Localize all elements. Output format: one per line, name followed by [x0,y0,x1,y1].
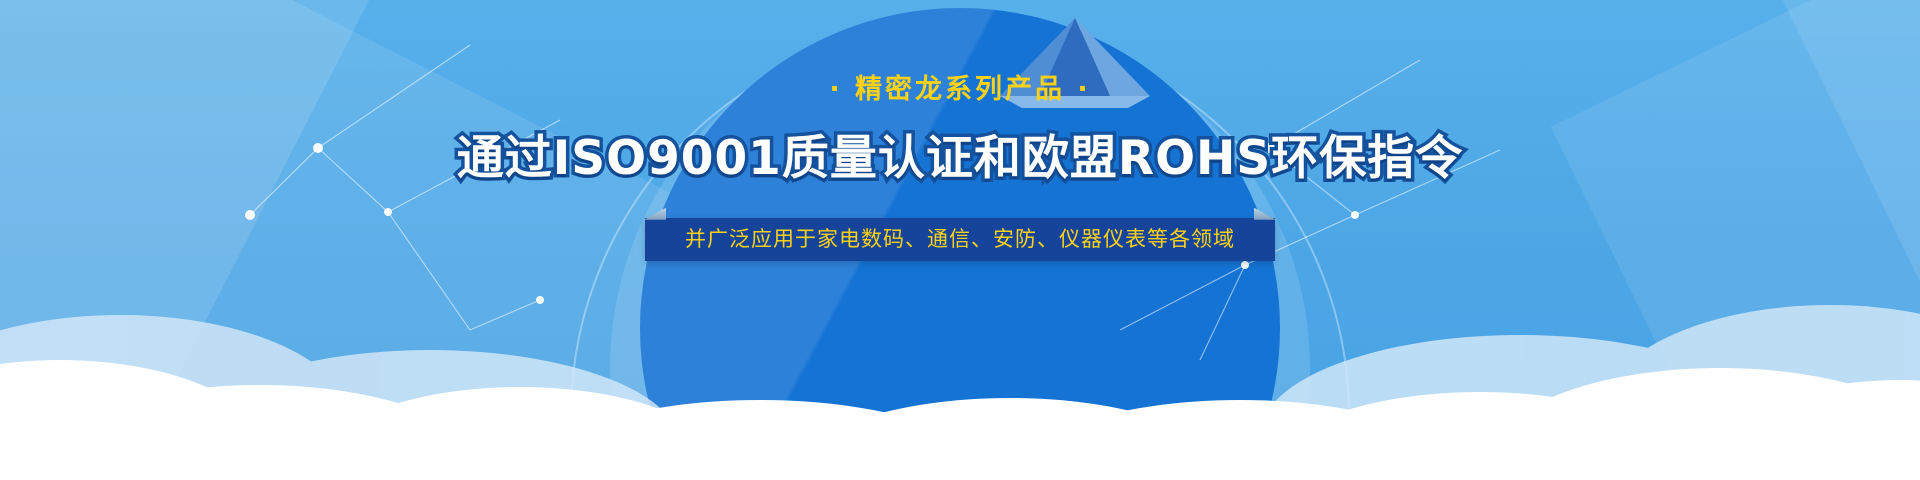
banner-eyebrow: · 精密龙系列产品 · [829,76,1090,103]
banner-content: · 精密龙系列产品 · 通过ISO9001质量认证和欧盟ROHS环保指令 并广泛… [0,0,1920,480]
banner-headline: 通过ISO9001质量认证和欧盟ROHS环保指令 [457,133,1463,185]
promo-banner: · 精密龙系列产品 · 通过ISO9001质量认证和欧盟ROHS环保指令 并广泛… [0,0,1920,480]
banner-ribbon: 并广泛应用于家电数码、通信、安防、仪器仪表等各领域 [645,218,1275,261]
ribbon-tail-right-icon [1254,208,1276,220]
banner-ribbon-text: 并广泛应用于家电数码、通信、安防、仪器仪表等各领域 [645,218,1275,261]
